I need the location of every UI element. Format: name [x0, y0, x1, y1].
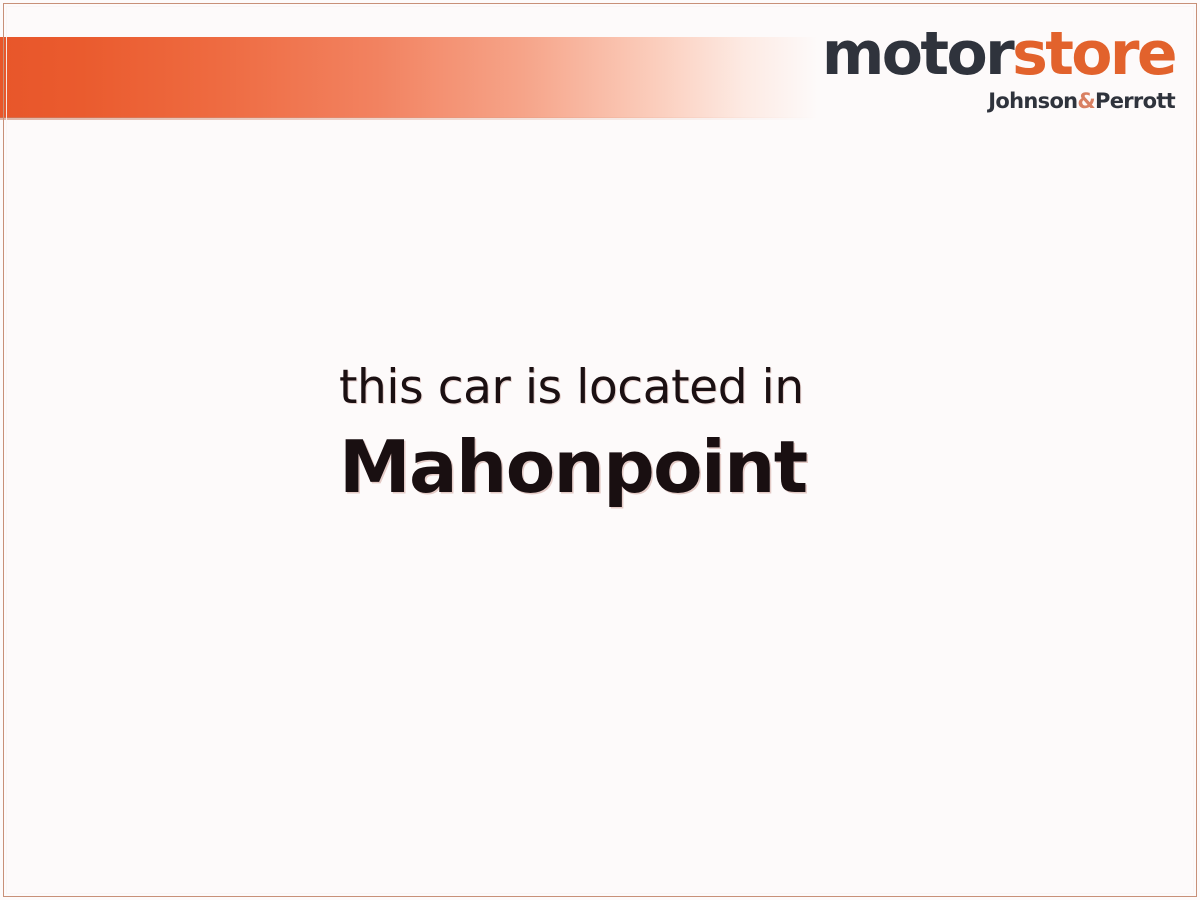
logo-subwordmark-johnson: Johnson — [988, 89, 1077, 113]
location-card: motorstore Johnson&Perrott this car is l… — [0, 0, 1200, 900]
logo-subwordmark: Johnson&Perrott — [822, 91, 1175, 112]
location-message: this car is located in Mahonpoint — [339, 360, 807, 508]
location-message-intro: this car is located in — [339, 360, 807, 415]
motorstore-logo[interactable]: motorstore Johnson&Perrott — [822, 24, 1175, 112]
location-message-place-name: Mahonpoint — [339, 427, 807, 508]
logo-wordmark: motorstore — [822, 24, 1175, 84]
orange-gradient-band — [0, 37, 818, 118]
logo-subwordmark-ampersand: & — [1077, 89, 1095, 113]
logo-wordmark-motor: motor — [822, 19, 1012, 89]
logo-wordmark-store: store — [1012, 19, 1175, 89]
logo-subwordmark-perrott: Perrott — [1095, 89, 1175, 113]
